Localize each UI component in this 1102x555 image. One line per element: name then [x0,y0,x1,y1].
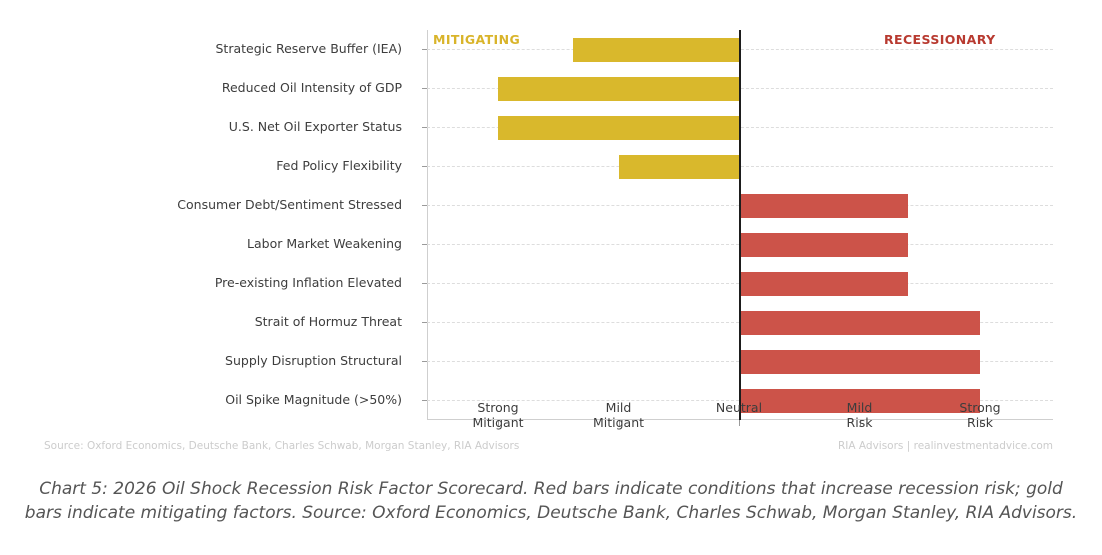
y-axis-tick [422,49,427,50]
y-axis-label: Strategic Reserve Buffer (IEA) [0,43,412,56]
x-axis-tick-label: MildMitigant [549,400,689,430]
y-axis-tick [422,127,427,128]
x-axis-tick-label-line1: Strong [910,400,1050,415]
x-axis-tick-label-line2: Risk [790,415,930,430]
y-axis-label: Oil Spike Magnitude (>50%) [0,394,412,407]
y-axis-label: Labor Market Weakening [0,238,412,251]
y-axis-tick [422,400,427,401]
y-axis-label: Pre-existing Inflation Elevated [0,277,412,290]
x-axis-tick-label-line2: Risk [910,415,1050,430]
chart-caption: Chart 5: 2026 Oil Shock Recession Risk F… [20,477,1082,525]
x-axis-tick-label-line1: Mild [790,400,930,415]
y-axis-tick [422,166,427,167]
bar [498,77,739,101]
y-axis-label: Fed Policy Flexibility [0,160,412,173]
chart-figure: MITIGATING RECESSIONARY Strategic Reserv… [0,0,1102,470]
y-axis-label: Strait of Hormuz Threat [0,316,412,329]
x-axis-tick-label-line1: Strong [428,400,568,415]
x-axis-tick-label: StrongRisk [910,400,1050,430]
zero-reference-line [739,30,741,420]
y-axis-tick [422,322,427,323]
plot-area [427,30,1053,420]
x-axis-tick-label: StrongMitigant [428,400,568,430]
y-axis-label: Consumer Debt/Sentiment Stressed [0,199,412,212]
bar [739,350,980,374]
x-axis-tick-label-line1: Neutral [669,400,809,415]
bar [739,311,980,335]
bar [739,233,908,257]
y-axis-label: Supply Disruption Structural [0,355,412,368]
y-axis-tick [422,205,427,206]
x-axis-tick-label: Neutral [669,400,809,415]
bar [573,38,739,62]
y-axis-label: U.S. Net Oil Exporter Status [0,121,412,134]
y-axis-tick [422,244,427,245]
bar [619,155,740,179]
y-axis-label: Reduced Oil Intensity of GDP [0,82,412,95]
source-note-right: RIA Advisors | realinvestmentadvice.com [838,440,1053,452]
source-note-left: Source: Oxford Economics, Deutsche Bank,… [44,440,519,452]
y-axis-tick [422,283,427,284]
y-axis-tick [422,361,427,362]
x-axis-tick-label-line2: Mitigant [428,415,568,430]
x-axis-tick-label-line2: Mitigant [549,415,689,430]
bar [739,272,908,296]
x-axis-tick [739,420,740,426]
bar [498,116,739,140]
x-axis-tick-label: MildRisk [790,400,930,430]
bar [739,194,908,218]
y-axis-tick [422,88,427,89]
x-axis-tick-label-line1: Mild [549,400,689,415]
